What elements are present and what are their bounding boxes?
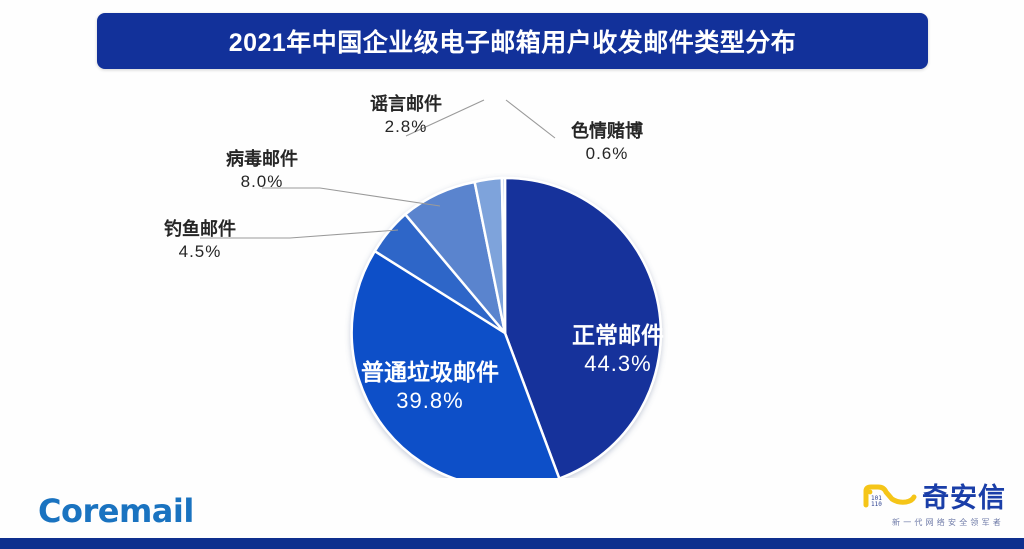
pie-chart: 正常邮件 44.3% 普通垃圾邮件 39.8% 钓鱼邮件 4.5% 病毒邮件 8…	[0, 78, 1024, 478]
qianxin-tagline: 新一代网络安全领军者	[892, 517, 1004, 528]
slice-name-phishing-mail: 钓鱼邮件	[120, 218, 280, 241]
footer-strip	[0, 538, 1024, 549]
slice-name-rumor-mail: 谣言邮件	[326, 93, 486, 116]
slice-name-porn-gambling: 色情赌博	[527, 120, 687, 143]
slice-label-porn-gambling: 色情赌博 0.6%	[527, 120, 687, 165]
chart-title-bar: 2021年中国企业级电子邮箱用户收发邮件类型分布	[97, 13, 928, 69]
slice-percent-rumor-mail: 2.8%	[326, 116, 486, 138]
qianxin-name: 奇安信	[922, 485, 1006, 512]
slice-name-virus-mail: 病毒邮件	[182, 148, 342, 171]
slice-percent-porn-gambling: 0.6%	[527, 143, 687, 165]
svg-text:110: 110	[871, 501, 882, 508]
slice-label-phishing-mail: 钓鱼邮件 4.5%	[120, 218, 280, 263]
slice-label-virus-mail: 病毒邮件 8.0%	[182, 148, 342, 193]
qianxin-mark-icon: 101 110	[862, 483, 918, 513]
qianxin-logo: 101 110 奇安信 新一代网络安全领军者	[862, 483, 1006, 528]
slice-percent-virus-mail: 8.0%	[182, 171, 342, 193]
slice-percent-phishing-mail: 4.5%	[120, 241, 280, 263]
slide-canvas: 2021年中国企业级电子邮箱用户收发邮件类型分布	[0, 0, 1024, 549]
coremail-logo: Coremail	[38, 492, 194, 530]
page-title: 2021年中国企业级电子邮箱用户收发邮件类型分布	[229, 23, 797, 59]
slice-label-rumor-mail: 谣言邮件 2.8%	[326, 93, 486, 138]
pie-chart-svg	[0, 78, 1024, 478]
